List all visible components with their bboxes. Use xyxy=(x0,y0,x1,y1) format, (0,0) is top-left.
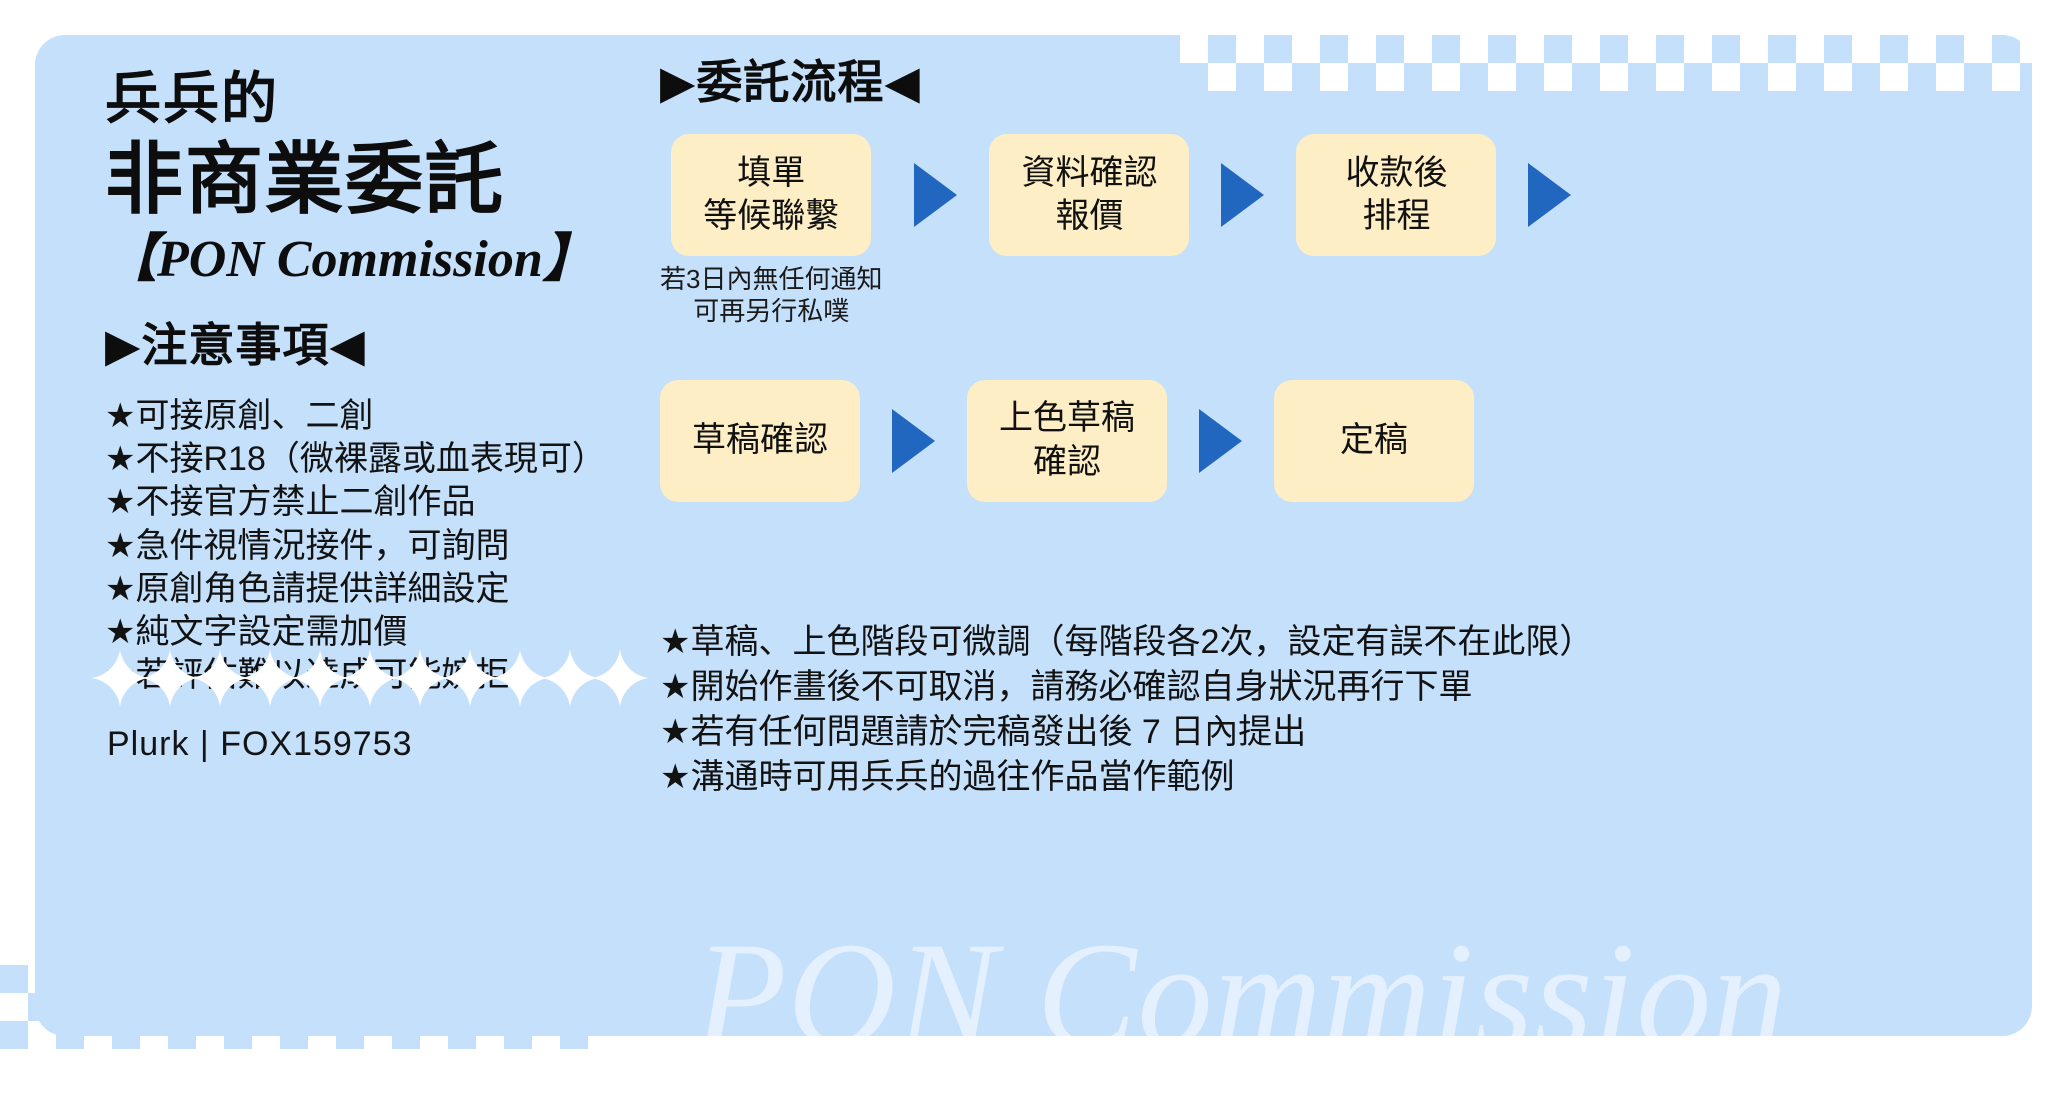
flow-step-1-2: 資料確認報價 xyxy=(989,134,1189,256)
note-item-4: ★原創角色請提供詳細設定 xyxy=(105,568,725,611)
contact-info: Plurk | FOX159753 xyxy=(107,725,413,764)
flow-row-2: 草稿確認上色草稿確認定稿 xyxy=(660,380,2030,502)
flow-step-label: 資料確認 xyxy=(1021,152,1157,196)
note-item-3: ★急件視情況接件，可詢問 xyxy=(105,525,725,568)
flow-step-label: 確認 xyxy=(1033,441,1101,485)
flow-step-label: 收款後 xyxy=(1345,152,1447,196)
flow-arrow-2-1 xyxy=(892,409,935,473)
flow-heading: ▶委託流程◀ xyxy=(660,55,2030,110)
note-item-6: ★若評估難以達成可能婉拒 xyxy=(105,654,725,697)
flow-step-label: 上色草稿 xyxy=(999,397,1135,441)
left-column: 兵兵的 非商業委託 【PON Commission】 ▶注意事項◀ ★可接原創、… xyxy=(105,67,725,697)
checker-square xyxy=(0,965,28,993)
flow-step-box: 上色草稿確認 xyxy=(967,380,1167,502)
flow-step-2-1: 草稿確認 xyxy=(660,380,860,502)
flow-step-2-2: 上色草稿確認 xyxy=(967,380,1167,502)
note-item-5: ★純文字設定需加價 xyxy=(105,611,725,654)
flow-arrow-2-2 xyxy=(1199,409,1242,473)
poster-canvas: PON Commission 兵兵的 非商業委託 【PON Commission… xyxy=(0,0,2067,1102)
flow-step-label: 草稿確認 xyxy=(692,419,828,463)
flow-step-box: 資料確認報價 xyxy=(989,134,1189,256)
page-title: 非商業委託 xyxy=(105,133,725,225)
flow-arrow-1-end xyxy=(1528,163,1571,227)
terms-list: ★草稿、上色階段可微調（每階段各2次，設定有誤不在此限）★開始作畫後不可取消，請… xyxy=(660,620,2030,801)
flow-step-label: 等候聯繫 xyxy=(703,195,839,239)
flow-arrow-1-2 xyxy=(1221,163,1264,227)
note-item-0: ★可接原創、二創 xyxy=(105,395,725,438)
flow-step-note: 若3日內無任何通知可再另行私噗 xyxy=(660,264,882,327)
flow-step-1-1: 填單等候聯繫若3日內無任何通知可再另行私噗 xyxy=(660,134,882,327)
flow-arrow-1-1 xyxy=(914,163,957,227)
page-title-english: 【PON Commission】 xyxy=(105,229,725,291)
flow-step-box: 定稿 xyxy=(1274,380,1474,502)
notes-heading: ▶注意事項◀ xyxy=(105,318,725,373)
flow-step-1-3: 收款後排程 xyxy=(1296,134,1496,256)
flow-step-label: 報價 xyxy=(1055,195,1123,239)
flow-step-label: 填單 xyxy=(737,152,805,196)
notes-list: ★可接原創、二創★不接R18（微裸露或血表現可）★不接官方禁止二創作品★急件視情… xyxy=(105,395,725,697)
flow-step-label: 定稿 xyxy=(1340,419,1408,463)
note-item-2: ★不接官方禁止二創作品 xyxy=(105,481,725,524)
flow-step-label: 排程 xyxy=(1362,195,1430,239)
note-item-1: ★不接R18（微裸露或血表現可） xyxy=(105,438,725,481)
term-item-3: ★溝通時可用兵兵的過往作品當作範例 xyxy=(660,755,2030,800)
term-item-0: ★草稿、上色階段可微調（每階段各2次，設定有誤不在此限） xyxy=(660,620,2030,665)
commission-card: PON Commission 兵兵的 非商業委託 【PON Commission… xyxy=(35,35,2032,1036)
right-column: ▶委託流程◀ 填單等候聯繫若3日內無任何通知可再另行私噗資料確認報價收款後排程 … xyxy=(660,55,2030,801)
flow-step-note-line: 若3日內無任何通知 xyxy=(660,264,882,296)
flow-step-box: 填單等候聯繫 xyxy=(671,134,871,256)
term-item-2: ★若有任何問題請於完稿發出後 7 日內提出 xyxy=(660,710,2030,755)
artist-name: 兵兵的 xyxy=(105,67,725,131)
checker-square xyxy=(0,1021,28,1049)
watermark-text: PON Commission xyxy=(695,920,1788,1036)
flow-step-box: 草稿確認 xyxy=(660,380,860,502)
flow-step-box: 收款後排程 xyxy=(1296,134,1496,256)
flow-step-2-3: 定稿 xyxy=(1274,380,1474,502)
flow-row-1: 填單等候聯繫若3日內無任何通知可再另行私噗資料確認報價收款後排程 xyxy=(660,134,2030,327)
term-item-1: ★開始作畫後不可取消，請務必確認自身狀況再行下單 xyxy=(660,665,2030,710)
flow-step-note-line: 可再另行私噗 xyxy=(660,296,882,328)
